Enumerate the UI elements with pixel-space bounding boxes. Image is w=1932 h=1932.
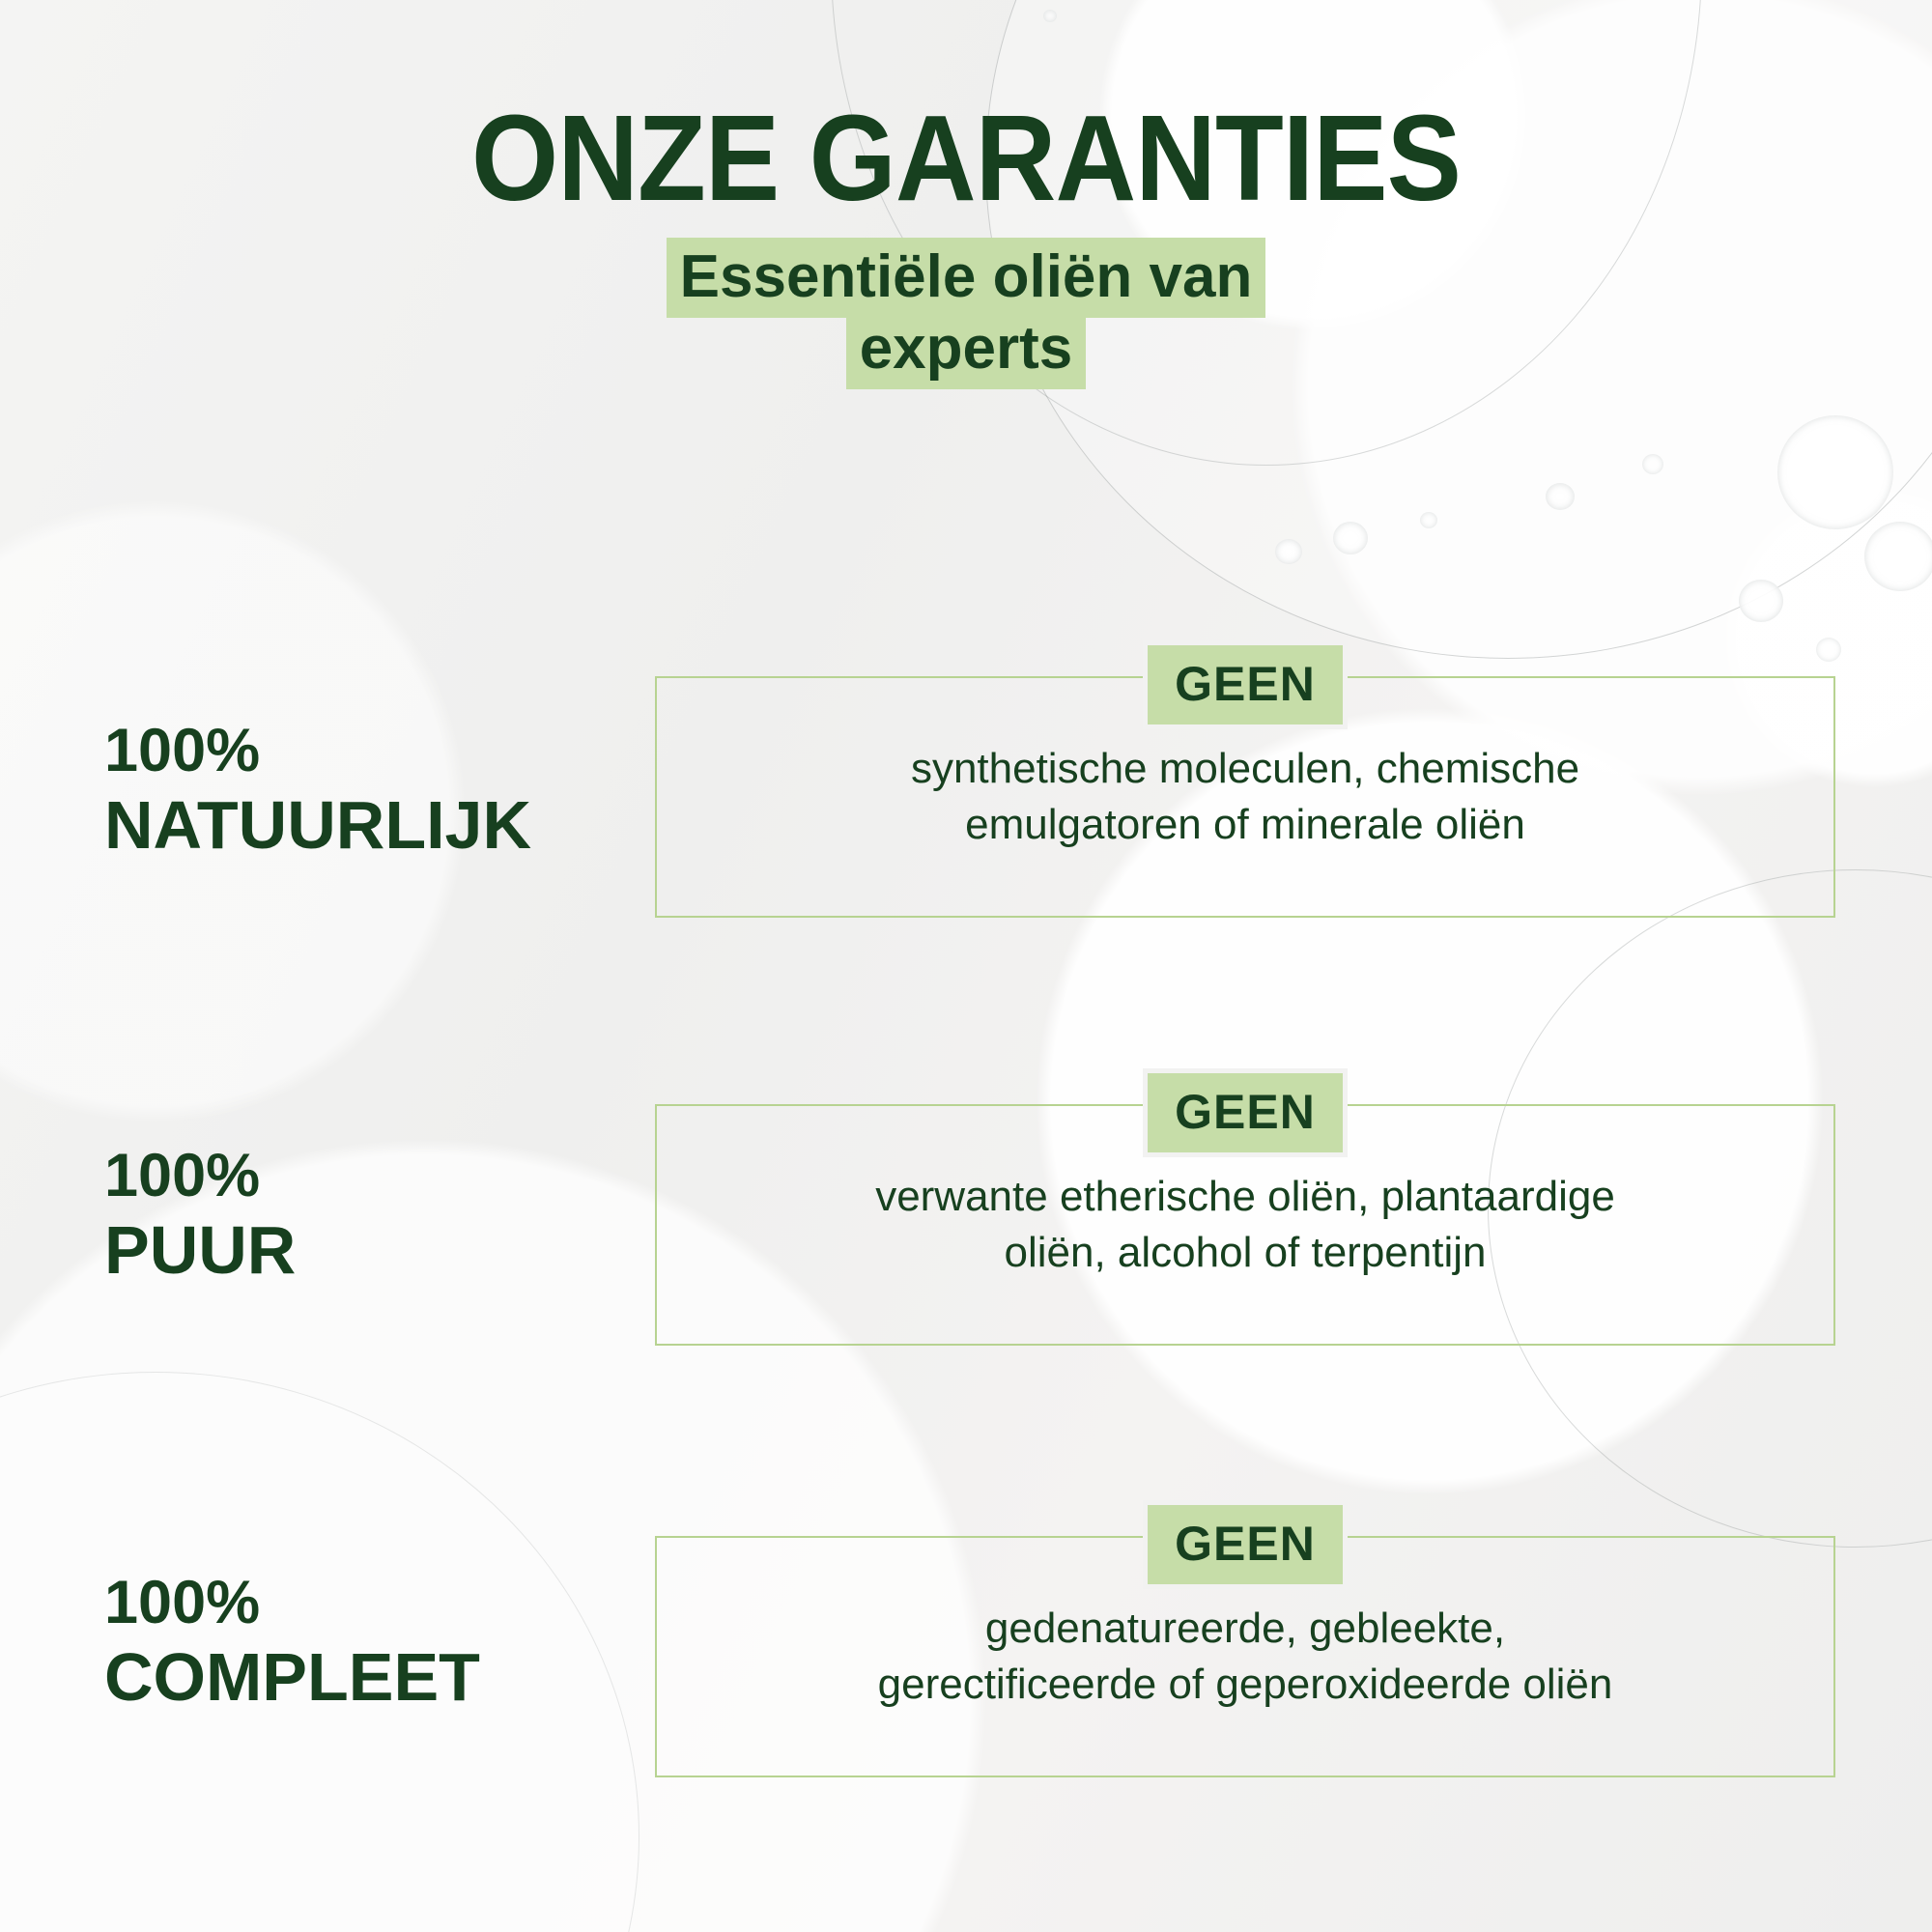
geen-badge[interactable]: GEEN (1148, 1505, 1343, 1584)
poster-canvas: ONZE GARANTIES Essentiële oliën van expe… (0, 0, 1932, 1932)
geen-badge[interactable]: GEEN (1148, 1073, 1343, 1152)
subtitle-line-1: Essentiële oliën van (0, 241, 1932, 313)
body-line-1: verwante etherische oliën, plantaardige (682, 1169, 1808, 1225)
guarantee-name: NATUURLIJK (104, 786, 531, 864)
guarantee-label-compleet: 100% COMPLEET (104, 1567, 480, 1716)
page-subtitle: Essentiële oliën van experts (0, 209, 1932, 384)
guarantee-box-compleet: GEEN gedenatureerde, gebleekte, gerectif… (655, 1536, 1835, 1777)
body-line-1: gedenatureerde, gebleekte, (682, 1601, 1808, 1657)
body-line-2: gerectificeerde of geperoxideerde oliën (682, 1657, 1808, 1713)
guarantee-box-puur: GEEN verwante etherische oliën, plantaar… (655, 1104, 1835, 1346)
guarantee-percent: 100% (104, 715, 531, 786)
body-line-1: synthetische moleculen, chemische (682, 741, 1808, 797)
geen-badge[interactable]: GEEN (1148, 645, 1343, 724)
guarantee-percent: 100% (104, 1567, 480, 1638)
guarantee-label-natuurlijk: 100% NATUURLIJK (104, 715, 531, 864)
guarantee-body-compleet: gedenatureerde, gebleekte, gerectificeer… (682, 1601, 1808, 1713)
guarantee-body-puur: verwante etherische oliën, plantaardige … (682, 1169, 1808, 1281)
poster-header: ONZE GARANTIES Essentiële oliën van expe… (0, 0, 1932, 384)
body-line-2: emulgatoren of minerale oliën (682, 797, 1808, 853)
guarantee-name: PUUR (104, 1211, 296, 1289)
body-line-2: oliën, alcohol of terpentijn (682, 1225, 1808, 1281)
guarantee-body-natuurlijk: synthetische moleculen, chemische emulga… (682, 741, 1808, 853)
guarantee-box-natuurlijk: GEEN synthetische moleculen, chemische e… (655, 676, 1835, 918)
guarantee-label-puur: 100% PUUR (104, 1140, 296, 1289)
guarantee-percent: 100% (104, 1140, 296, 1211)
guarantee-name: COMPLEET (104, 1638, 480, 1716)
page-title: ONZE GARANTIES (77, 0, 1855, 209)
subtitle-line-2: experts (0, 313, 1932, 384)
